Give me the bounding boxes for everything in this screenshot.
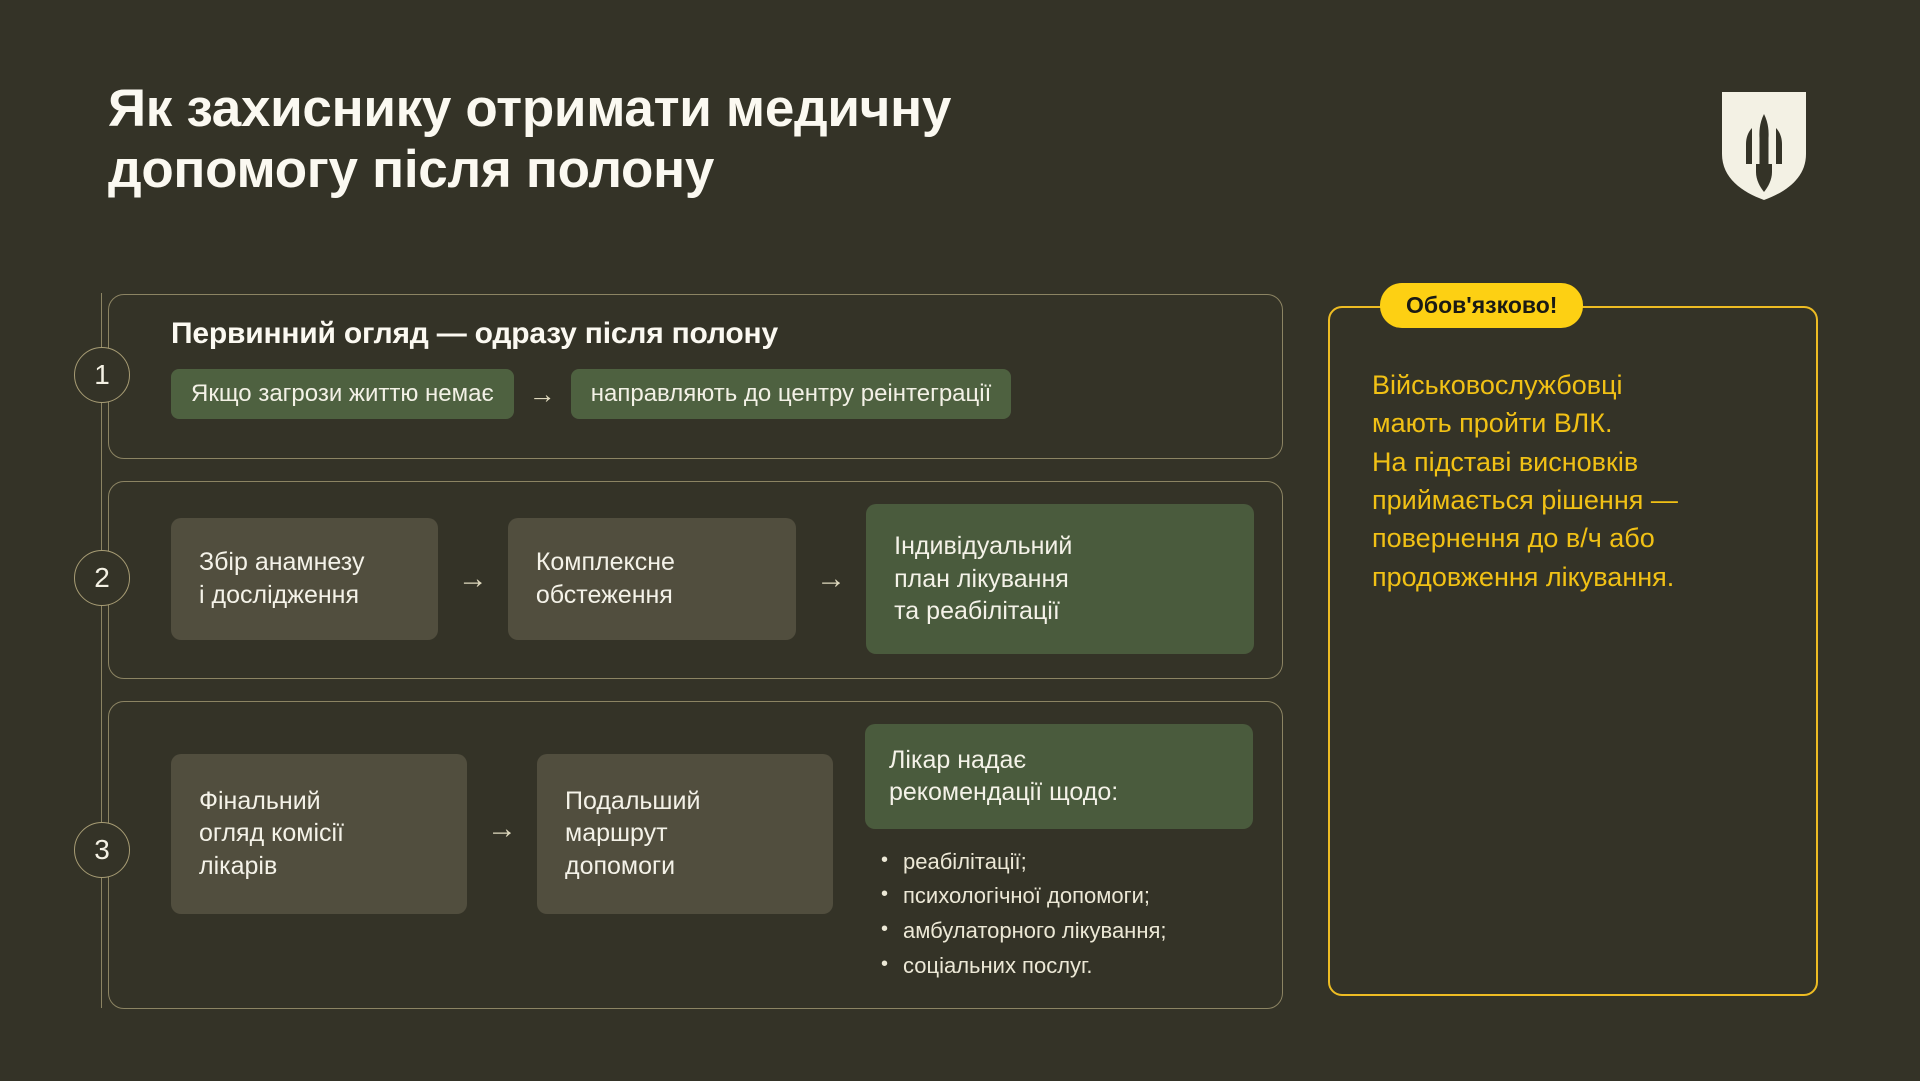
status-badge: Обов'язково! bbox=[1380, 283, 1583, 328]
step-3-flow: Фінальний огляд комісії лікарів → Подаль… bbox=[171, 724, 1254, 984]
page-title: Як захиснику отримати медичну допомогу п… bbox=[108, 78, 1358, 201]
steps-container: 1 Первинний огляд — одразу після полону … bbox=[108, 294, 1283, 1031]
ukrainian-armed-forces-trident-shield-icon bbox=[1722, 92, 1806, 200]
step-1: 1 Первинний огляд — одразу після полону … bbox=[108, 294, 1283, 459]
list-item: психологічної допомоги; bbox=[879, 879, 1253, 914]
list-item: соціальних послуг. bbox=[879, 949, 1253, 984]
step-3: 3 Фінальний огляд комісії лікарів → Пода… bbox=[108, 701, 1283, 1009]
step-3-card-further-route: Подальший маршрут допомоги bbox=[537, 754, 833, 914]
step-2-card-anamnesis: Збір анамнезу і дослідження bbox=[171, 518, 438, 640]
step-number-badge-3: 3 bbox=[74, 822, 130, 878]
mandatory-panel-text: Військовослужбовці мають пройти ВЛК. На … bbox=[1372, 366, 1774, 596]
step-3-recommendations-heading: Лікар надає рекомендації щодо: bbox=[865, 724, 1253, 829]
arrow-right-icon: → bbox=[467, 814, 537, 844]
arrow-right-icon: → bbox=[514, 381, 571, 408]
step-2-card-examination: Комплексне обстеження bbox=[508, 518, 796, 640]
step-1-pill-condition: Якщо загрози життю немає bbox=[171, 369, 514, 419]
arrow-right-icon: → bbox=[438, 564, 508, 594]
step-3-recommendations: Лікар надає рекомендації щодо: реабіліта… bbox=[865, 724, 1253, 984]
step-3-card-final-review: Фінальний огляд комісії лікарів bbox=[171, 754, 467, 914]
step-2-card-individual-plan: Індивідуальний план лікування та реабілі… bbox=[866, 504, 1254, 654]
step-number-badge-2: 2 bbox=[74, 550, 130, 606]
step-1-pill-result: направляють до центру реінтеграції bbox=[571, 369, 1012, 419]
step-1-heading: Первинний огляд — одразу після полону bbox=[171, 317, 1254, 351]
mandatory-panel: Обов'язково! Військовослужбовці мають пр… bbox=[1328, 306, 1818, 996]
arrow-right-icon: → bbox=[796, 564, 866, 594]
step-3-recommendations-list: реабілітації; психологічної допомоги; ам… bbox=[865, 845, 1253, 984]
header: Як захиснику отримати медичну допомогу п… bbox=[108, 78, 1358, 201]
step-2: 2 Збір анамнезу і дослідження → Комплекс… bbox=[108, 481, 1283, 679]
list-item: реабілітації; bbox=[879, 845, 1253, 880]
step-number-badge-1: 1 bbox=[74, 347, 130, 403]
step-1-flow: Якщо загрози життю немає → направляють д… bbox=[171, 369, 1254, 419]
step-2-flow: Збір анамнезу і дослідження → Комплексне… bbox=[171, 504, 1254, 654]
list-item: амбулаторного лікування; bbox=[879, 914, 1253, 949]
